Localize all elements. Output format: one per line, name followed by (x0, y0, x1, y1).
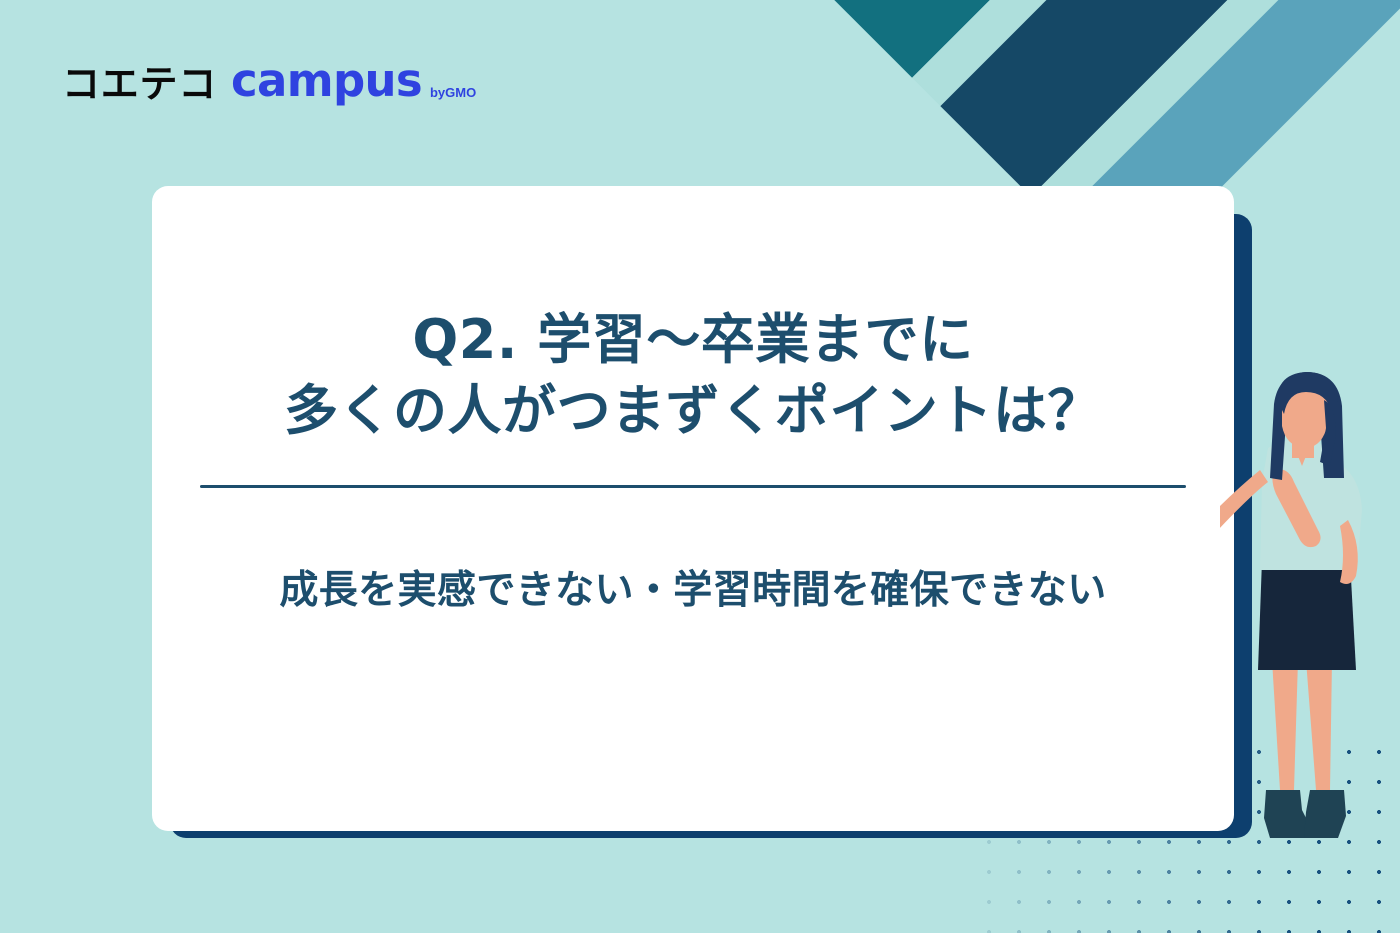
title-line-2: 多くの人がつまずくポイントは？ (152, 375, 1234, 446)
leg-right-shape (1306, 660, 1332, 790)
collar-notch-shape (1294, 446, 1310, 466)
leg-left-shape (1272, 660, 1298, 790)
hair-side-shape (1320, 400, 1336, 466)
title-divider (200, 485, 1186, 488)
stripe-mint-2 (912, 0, 1400, 106)
brand-logo: コエテコ campus byGMO (62, 58, 476, 103)
forearm-across-chest-shape (1272, 469, 1320, 547)
logo-kana-text: コエテコ (62, 65, 217, 103)
blouse-shape (1260, 439, 1356, 570)
skirt-shape (1258, 560, 1356, 670)
neck-shape (1292, 432, 1314, 458)
logo-campus-text: campus (231, 58, 422, 103)
sleeve-right-shape (1336, 462, 1362, 559)
hair-back-shape (1270, 372, 1344, 480)
slide-root: コエテコ campus byGMO Q2. 学習〜卒業までに 多くの人がつまずく… (0, 0, 1400, 933)
shoe-right-shape (1304, 790, 1346, 838)
logo-bygmo-text: byGMO (430, 86, 476, 103)
title-line-1: Q2. 学習〜卒業までに (152, 304, 1234, 375)
page-title: Q2. 学習〜卒業までに 多くの人がつまずくポイントは？ (152, 304, 1234, 447)
content-card: Q2. 学習〜卒業までに 多くの人がつまずくポイントは？ 成長を実感できない・学… (152, 186, 1234, 831)
shoe-left-shape (1264, 790, 1316, 838)
forearm-right-shape (1340, 520, 1358, 584)
stripe-navy-1 (940, 0, 1400, 197)
hair-fringe-shape (1278, 372, 1338, 414)
face-shape (1282, 376, 1328, 448)
stripe-teal-1 (806, 0, 1400, 78)
answer-subtitle: 成長を実感できない・学習時間を確保できない (152, 566, 1234, 617)
stripe-bl-blue-1 (0, 896, 25, 933)
